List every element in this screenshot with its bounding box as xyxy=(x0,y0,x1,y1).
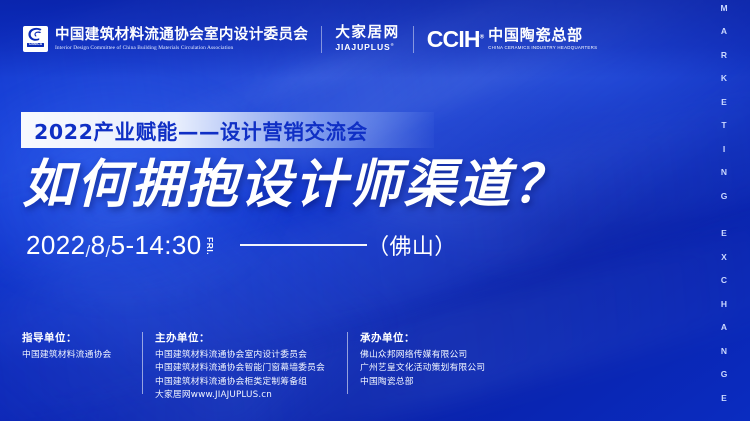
organizer-line: 中国建筑材料流通协会 xyxy=(22,349,155,362)
organizers-footer: 指导单位： 中国建筑材料流通协会 主办单位： 中国建筑材料流通协会室内设计委员会… xyxy=(22,330,582,402)
cbmca-mark-icon: CBMCA xyxy=(23,26,48,52)
column-divider xyxy=(347,332,348,394)
side-letter: K xyxy=(721,74,727,83)
side-letter: E xyxy=(721,98,727,107)
event-poster: CBMCA 中国建筑材料流通协会室内设计委员会 Interior Design … xyxy=(0,0,750,421)
organizer-line: 中国建筑材料流通协会柜类定制筹备组 xyxy=(155,376,360,389)
side-letter: G xyxy=(721,192,728,201)
event-datetime: 2022/8/5-14:30 xyxy=(26,230,202,261)
organizer-title: 主办单位： xyxy=(155,330,360,345)
side-letter: M xyxy=(720,4,727,13)
date-slash: / xyxy=(105,242,110,261)
side-letter: A xyxy=(721,323,727,332)
organizer-column-guidance: 指导单位： 中国建筑材料流通协会 xyxy=(22,330,155,362)
organizer-title: 承办单位： xyxy=(360,330,560,345)
association-name-cn: 中国建筑材料流通协会室内设计委员会 xyxy=(55,27,308,43)
side-vertical-text: M A R K E T I N G E X C H A N G E xyxy=(698,0,750,421)
event-subtitle-banner: 2022产业赋能——设计营销交流会 xyxy=(21,112,434,148)
association-name-en: Interior Design Committee of China Build… xyxy=(55,45,308,51)
side-word-exchange: E X C H A N G E xyxy=(721,229,728,417)
ccih-logo: CCIH® 中国陶瓷总部 CHINA CERAMICS INDUSTRY HEA… xyxy=(427,28,598,50)
side-letter: C xyxy=(721,276,727,285)
organizer-line: 广州艺皇文化活动策划有限公司 xyxy=(360,362,560,375)
logo-divider xyxy=(413,26,414,53)
ccih-wordmark: CCIH® xyxy=(427,29,484,50)
jiajuplus-name-cn: 大家居网 xyxy=(335,26,399,41)
organizer-line: 中国陶瓷总部 xyxy=(360,376,560,389)
date-slash: / xyxy=(85,242,90,261)
side-letter: E xyxy=(721,394,727,403)
horizontal-rule xyxy=(240,244,367,245)
side-letter: N xyxy=(721,168,727,177)
jiajuplus-name-en: JIAJUPLUS® xyxy=(335,42,399,52)
event-city: （佛山） xyxy=(367,229,457,261)
association-name: 中国建筑材料流通协会室内设计委员会 Interior Design Commit… xyxy=(55,27,308,51)
side-letter: H xyxy=(721,300,727,309)
event-year: 2022 xyxy=(26,230,85,260)
side-letter: X xyxy=(721,253,727,262)
event-subtitle: 2022产业赋能——设计营销交流会 xyxy=(34,115,368,145)
organizer-line: 佛山众邦网络传媒有限公司 xyxy=(360,349,560,362)
page-title: 如何拥抱设计师渠道？ xyxy=(22,156,567,216)
jiajuplus-logo: 大家居网 JIAJUPLUS® xyxy=(335,26,399,52)
organizer-column-host: 主办单位： 中国建筑材料流通协会室内设计委员会 中国建筑材料流通协会智能门窗幕墙… xyxy=(155,330,360,402)
logo-divider xyxy=(321,26,322,53)
trademark-icon: ® xyxy=(391,42,395,47)
cbmca-logo: CBMCA 中国建筑材料流通协会室内设计委员会 Interior Design … xyxy=(23,26,308,52)
side-letter: A xyxy=(721,27,727,36)
event-weekday: FRI. xyxy=(206,237,215,255)
event-datetime-row: 2022/8/5-14:30 FRI. （佛山） xyxy=(26,228,586,262)
trademark-icon: ® xyxy=(480,34,484,40)
ccih-name: 中国陶瓷总部 CHINA CERAMICS INDUSTRY HEADQUART… xyxy=(488,28,597,50)
event-day-time: 5-14:30 xyxy=(111,230,202,260)
organizer-line: 中国建筑材料流通协会智能门窗幕墙委员会 xyxy=(155,362,360,375)
side-letter: T xyxy=(721,121,726,130)
organizer-line: 中国建筑材料流通协会室内设计委员会 xyxy=(155,349,360,362)
organizer-column-undertaker: 承办单位： 佛山众邦网络传媒有限公司 广州艺皇文化活动策划有限公司 中国陶瓷总部 xyxy=(360,330,560,389)
event-month: 8 xyxy=(91,230,106,260)
side-letter: G xyxy=(721,370,728,379)
side-letter: E xyxy=(721,229,727,238)
side-letter: N xyxy=(721,347,727,356)
organizer-line: 大家居网www.JIAJUPLUS.cn xyxy=(155,389,360,402)
column-divider xyxy=(142,332,143,394)
ccih-name-cn: 中国陶瓷总部 xyxy=(488,28,597,44)
side-letter: R xyxy=(721,51,727,60)
ccih-name-en: CHINA CERAMICS INDUSTRY HEADQUARTERS xyxy=(488,45,597,50)
poster-header: CBMCA 中国建筑材料流通协会室内设计委员会 Interior Design … xyxy=(0,0,750,78)
cbmca-wordmark: CBMCA xyxy=(27,43,44,47)
organizer-title: 指导单位： xyxy=(22,330,155,345)
side-word-marketing: M A R K E T I N G xyxy=(720,4,727,216)
side-letter: I xyxy=(723,145,725,154)
